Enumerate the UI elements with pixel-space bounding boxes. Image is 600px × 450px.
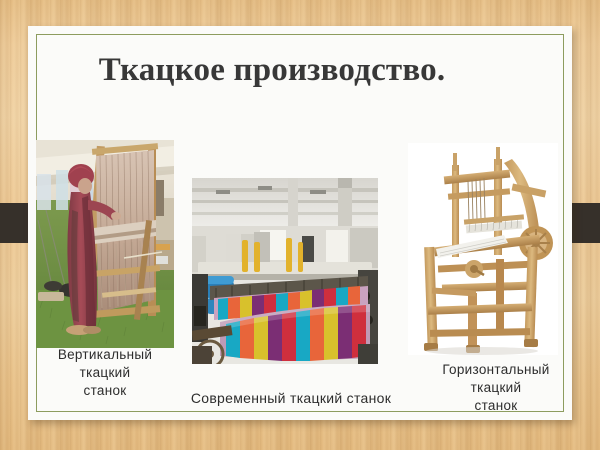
caption-modern-loom: Современный ткацкий станок xyxy=(166,389,416,407)
caption-line: станок xyxy=(412,397,580,415)
page-title: Ткацкое производство. xyxy=(30,52,514,88)
image-horizontal-loom xyxy=(408,143,558,355)
image-modern-loom xyxy=(192,178,378,364)
caption-line: ткацкий xyxy=(16,364,194,382)
caption-line: Горизонтальный xyxy=(412,361,580,379)
caption-line: Вертикальный xyxy=(16,346,194,364)
caption-line: ткацкий xyxy=(412,379,580,397)
caption-line: Современный ткацкий станок xyxy=(166,389,416,407)
presentation-slide: Ткацкое производство. xyxy=(0,0,600,450)
caption-horizontal-loom: Горизонтальный ткацкий станок xyxy=(412,361,580,414)
image-vertical-loom xyxy=(36,140,174,348)
